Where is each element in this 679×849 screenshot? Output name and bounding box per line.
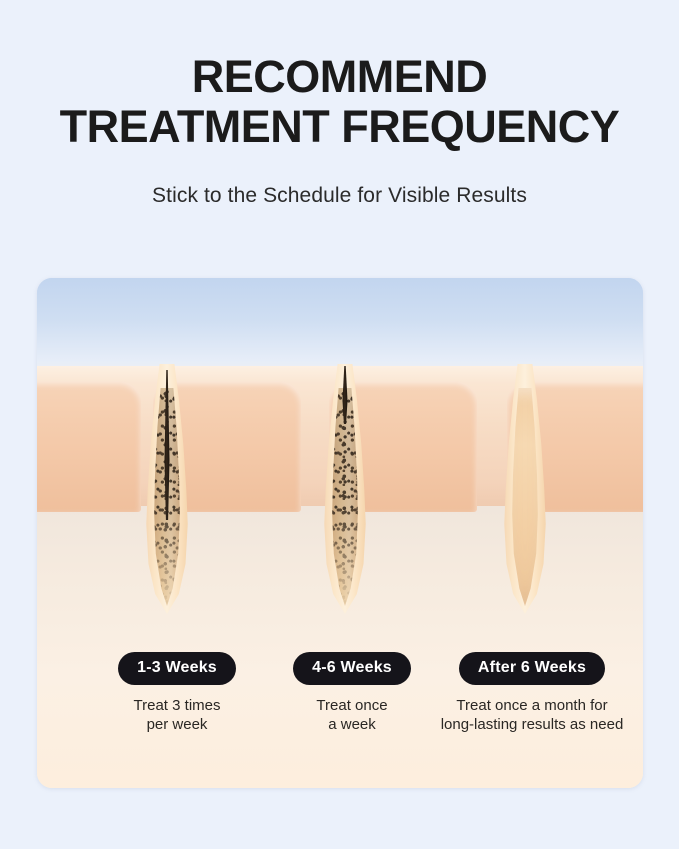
skin-cell <box>37 381 141 512</box>
status-badge-weeks-1-3: 1-3 Weeks <box>118 652 236 685</box>
page-title-line-2: TREATMENT FREQUENCY <box>24 102 655 152</box>
page-subtitle: Stick to the Schedule for Visible Result… <box>0 184 679 208</box>
status-badge-after-6-weeks: After 6 Weeks <box>459 652 605 685</box>
page-header: RECOMMEND TREATMENT FREQUENCY Stick to t… <box>0 0 679 208</box>
page-title: RECOMMEND TREATMENT FREQUENCY <box>24 52 655 152</box>
legend-item-3: After 6 Weeks Treat once a month for lon… <box>392 652 672 734</box>
page-title-line-1: RECOMMEND <box>24 52 655 102</box>
legend-caption-3: Treat once a month for long-lasting resu… <box>392 696 672 734</box>
treatment-legend: 1-3 Weeks Treat 3 times per week 4-6 Wee… <box>37 652 643 762</box>
